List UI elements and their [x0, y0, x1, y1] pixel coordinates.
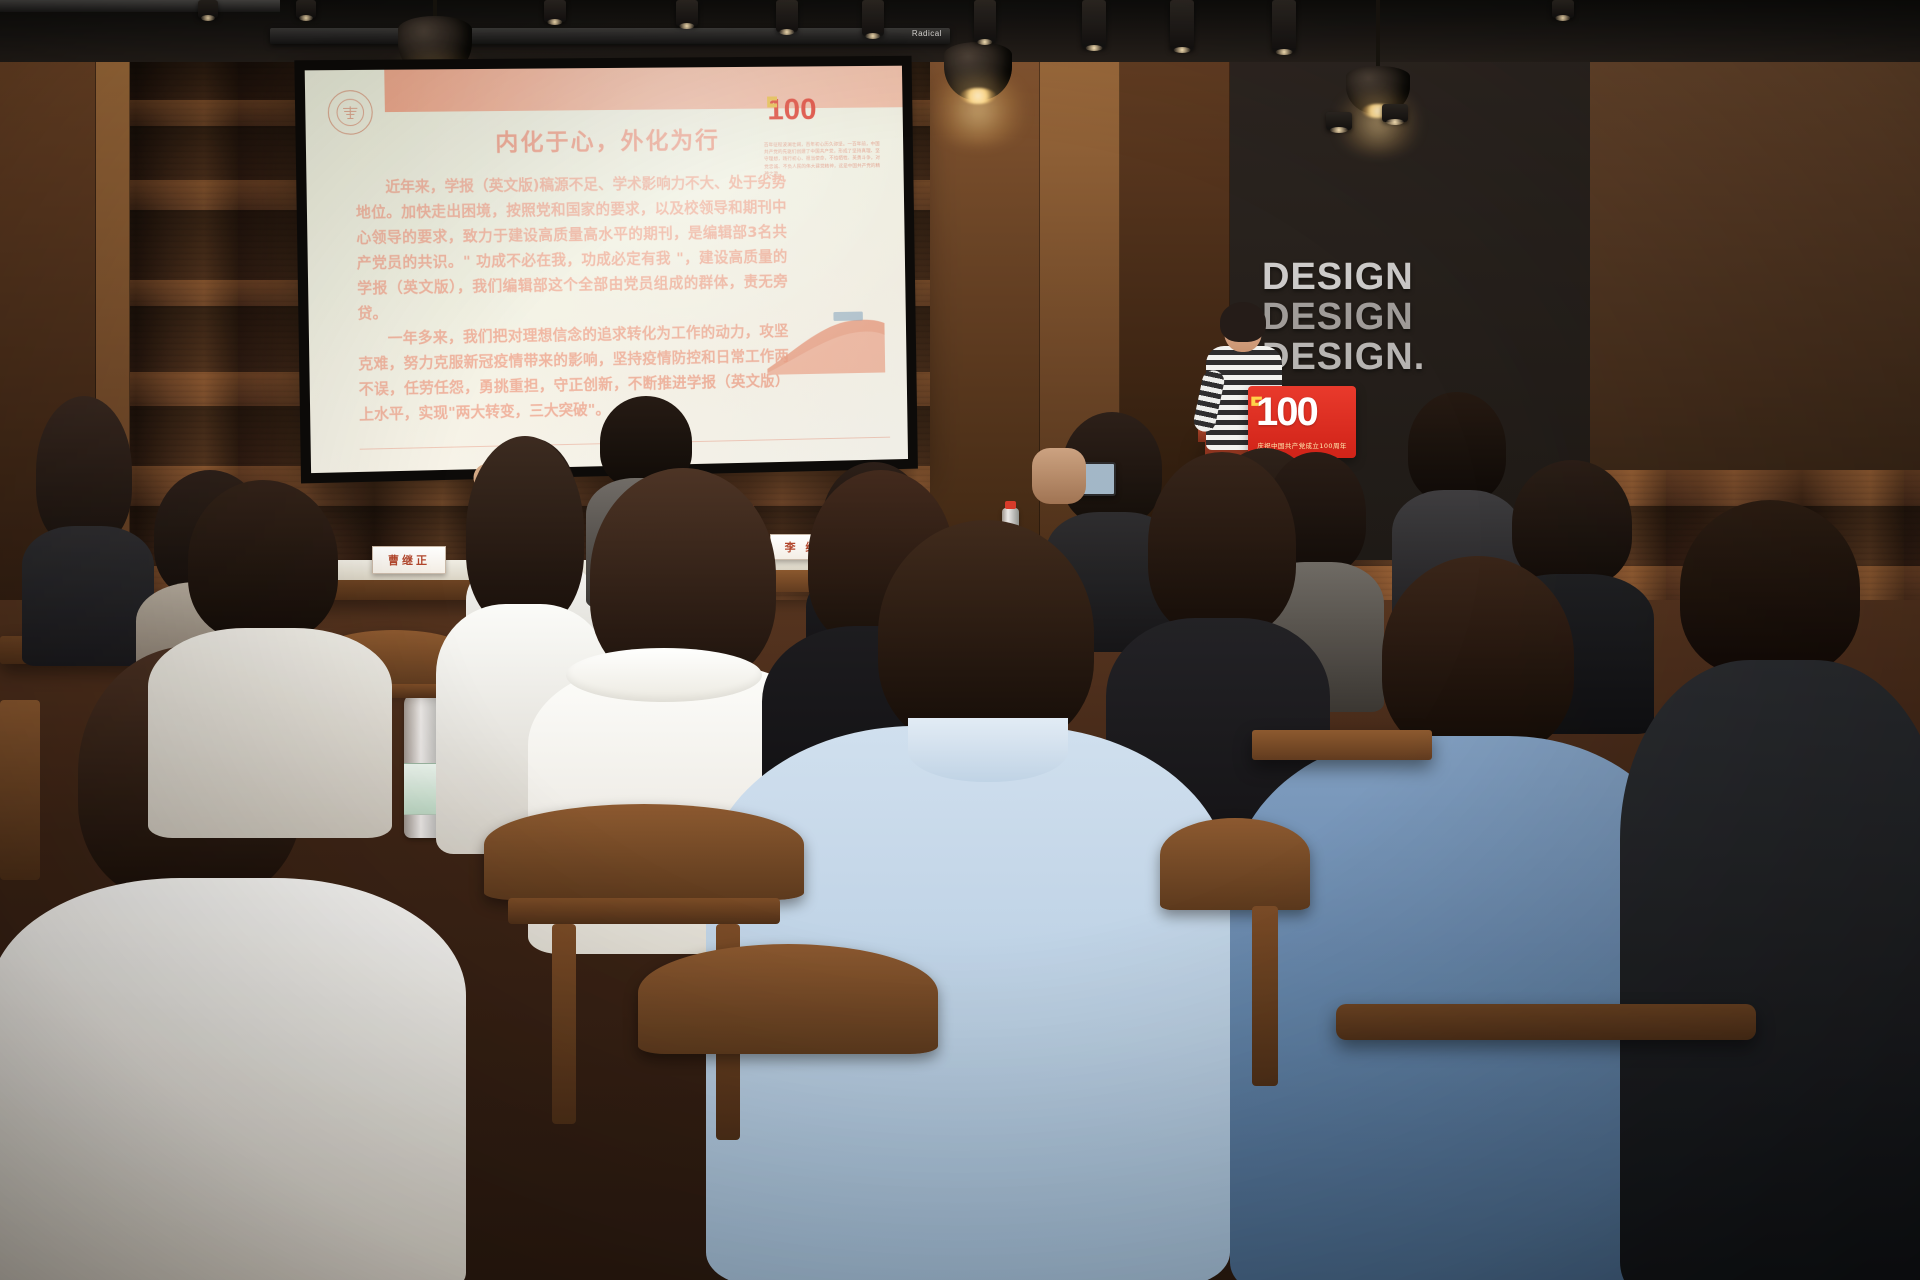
track-spotlight — [296, 0, 316, 18]
table — [1336, 1004, 1756, 1040]
track-spotlight — [1272, 0, 1296, 52]
audience-member — [1620, 500, 1920, 1280]
track-spotlight — [862, 0, 884, 36]
chair-back — [484, 804, 804, 900]
ceiling-projector-rail: Radical — [270, 28, 950, 44]
audience-member — [148, 480, 388, 820]
right-wall-slab-wood — [1590, 0, 1920, 470]
track-spotlight — [544, 0, 566, 22]
wall-design-text-1: DESIGN — [1262, 256, 1414, 299]
track-spotlight — [676, 0, 698, 26]
slide-paragraph-2: 一年多来，我们把对理想信念的追求转化为工作的动力，攻坚克难，努力克服新冠疫情带来… — [358, 319, 790, 428]
banner-digits: 100 — [1256, 390, 1352, 434]
audience-member — [22, 396, 152, 646]
track-spotlight — [1552, 0, 1574, 18]
speaker-hair — [1220, 302, 1266, 342]
track-spotlight — [1326, 112, 1352, 130]
raised-hand — [1032, 448, 1086, 504]
chair-leg — [0, 700, 40, 880]
photo-scene: DESIGN DESIGN DESIGN. Radical — [0, 0, 1920, 1280]
chair-leg — [1252, 906, 1278, 1086]
chair-back — [1160, 818, 1310, 910]
chair-back — [638, 944, 938, 1054]
track-spotlight — [776, 0, 798, 32]
slide-inset-caption: 百年征程波澜壮阔，百年初心历久弥坚。一百年前，中国共产党的先驱们创建了中国共产党… — [764, 141, 880, 178]
slide-inset-graphic: 100 百年征程波澜壮阔，百年初心历久弥坚。一百年前，中国共产党的先驱们创建了中… — [759, 90, 889, 389]
rail-label: Radical — [912, 29, 942, 38]
chair-leg — [552, 924, 576, 1124]
track-spotlight — [1082, 0, 1106, 48]
slide-body-text: 近年来，学报（英文版)稿源不足、学术影响力不大、处于劣势地位。加快走出困境，按照… — [355, 170, 789, 428]
ceiling-rail-left — [0, 0, 280, 12]
audience-member — [706, 520, 1226, 1280]
track-spotlight — [1170, 0, 1194, 50]
shirt-collar — [908, 718, 1068, 782]
track-spotlight — [974, 0, 996, 42]
chair-slat — [508, 898, 780, 924]
anniversary-100-badge-icon: 100 — [765, 90, 836, 126]
table — [1252, 730, 1432, 760]
slide-paragraph-1: 近年来，学报（英文版)稿源不足、学术影响力不大、处于劣势地位。加快走出困境，按照… — [355, 170, 788, 327]
name-card-text: 曹继正 — [388, 552, 430, 568]
slide-inset-wave-graphic — [766, 309, 885, 375]
track-spotlight — [198, 0, 218, 18]
track-spotlight — [1382, 104, 1408, 122]
